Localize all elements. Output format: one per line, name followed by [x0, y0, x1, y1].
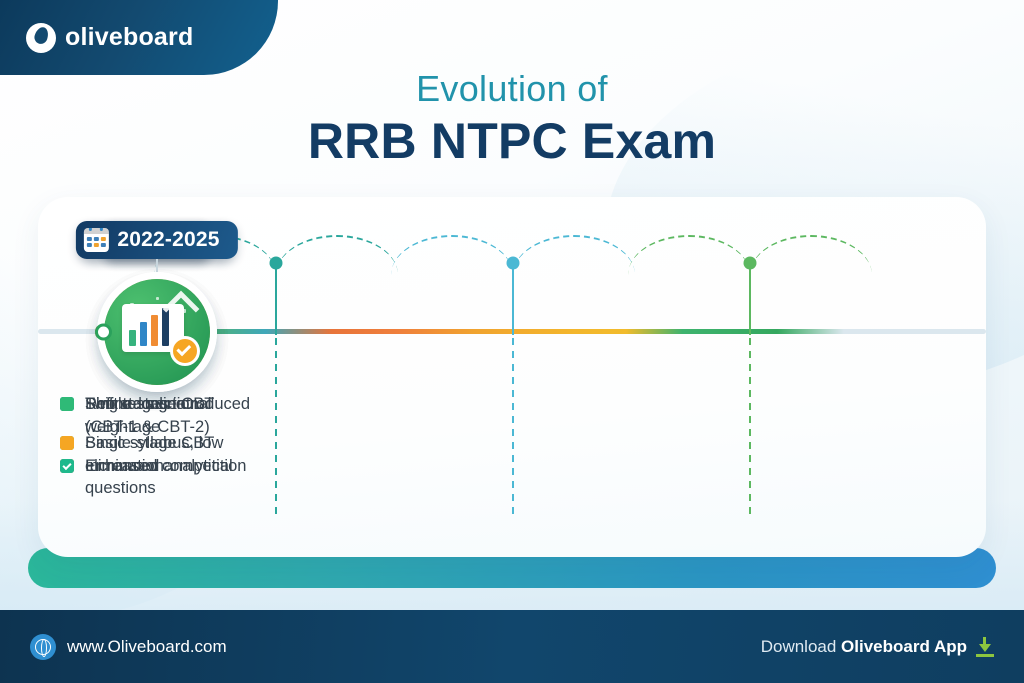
- timeline-divider-2: [512, 255, 514, 517]
- bullet-marker-check-icon: [60, 459, 74, 473]
- divider-arc-right: [750, 235, 872, 275]
- footer-url-text: www.Oliveboard.com: [67, 637, 227, 657]
- oliveboard-leaf-icon: [26, 23, 56, 53]
- footer-website[interactable]: www.Oliveboard.com: [30, 634, 227, 660]
- download-prefix: Download: [761, 637, 841, 656]
- footer-download-text: Download Oliveboard App: [761, 637, 967, 657]
- list-item: Refined sectional weightage: [60, 393, 267, 439]
- divider-solid-line: [275, 261, 277, 335]
- divider-arc-right: [513, 235, 635, 275]
- timeline-divider-3: [749, 255, 751, 517]
- timeline-knob-icon: [95, 324, 112, 341]
- bullet-text: Enhanced analytical questions: [85, 455, 267, 501]
- bullet-marker-square-icon: [60, 397, 74, 411]
- divider-solid-line: [512, 261, 514, 335]
- download-arrow-icon[interactable]: [976, 637, 994, 657]
- divider-solid-line: [749, 261, 751, 335]
- timeline-divider-1: [275, 255, 277, 517]
- brand-logo-tab[interactable]: oliveboard: [0, 0, 278, 75]
- footer-bar: www.Oliveboard.com Download Oliveboard A…: [0, 610, 1024, 683]
- timeline: Pre-2019 CBT Single-stage CBT: [38, 197, 986, 557]
- list-item: Enhanced analytical questions: [60, 455, 267, 501]
- download-brand: Oliveboard App: [841, 637, 967, 656]
- bullet-text: Refined sectional weightage: [85, 393, 267, 439]
- title-heading: RRB NTPC Exam: [0, 112, 1024, 170]
- footer-download-cta[interactable]: Download Oliveboard App: [761, 637, 994, 657]
- divider-arc-right: [276, 235, 398, 275]
- page-title: Evolution of RRB NTPC Exam: [0, 68, 1024, 170]
- milestone-bullet-list: Refined sectional weightage Enhanced ana…: [60, 393, 267, 516]
- brand-name: oliveboard: [65, 23, 193, 52]
- calendar-icon: [83, 228, 108, 252]
- milestone-date-label: 2022-2025: [117, 228, 219, 252]
- divider-arc-left: [391, 235, 513, 275]
- milestone-date-badge[interactable]: 2022-2025: [75, 221, 237, 259]
- infographic-poster: oliveboard Evolution of RRB NTPC Exam: [0, 0, 1024, 683]
- divider-arc-left: [628, 235, 750, 275]
- globe-icon: [30, 634, 56, 660]
- verified-check-icon: [170, 336, 200, 366]
- milestone-2022-2025[interactable]: 2022-2025: [38, 197, 275, 557]
- milestone-icon-disc[interactable]: [104, 279, 210, 385]
